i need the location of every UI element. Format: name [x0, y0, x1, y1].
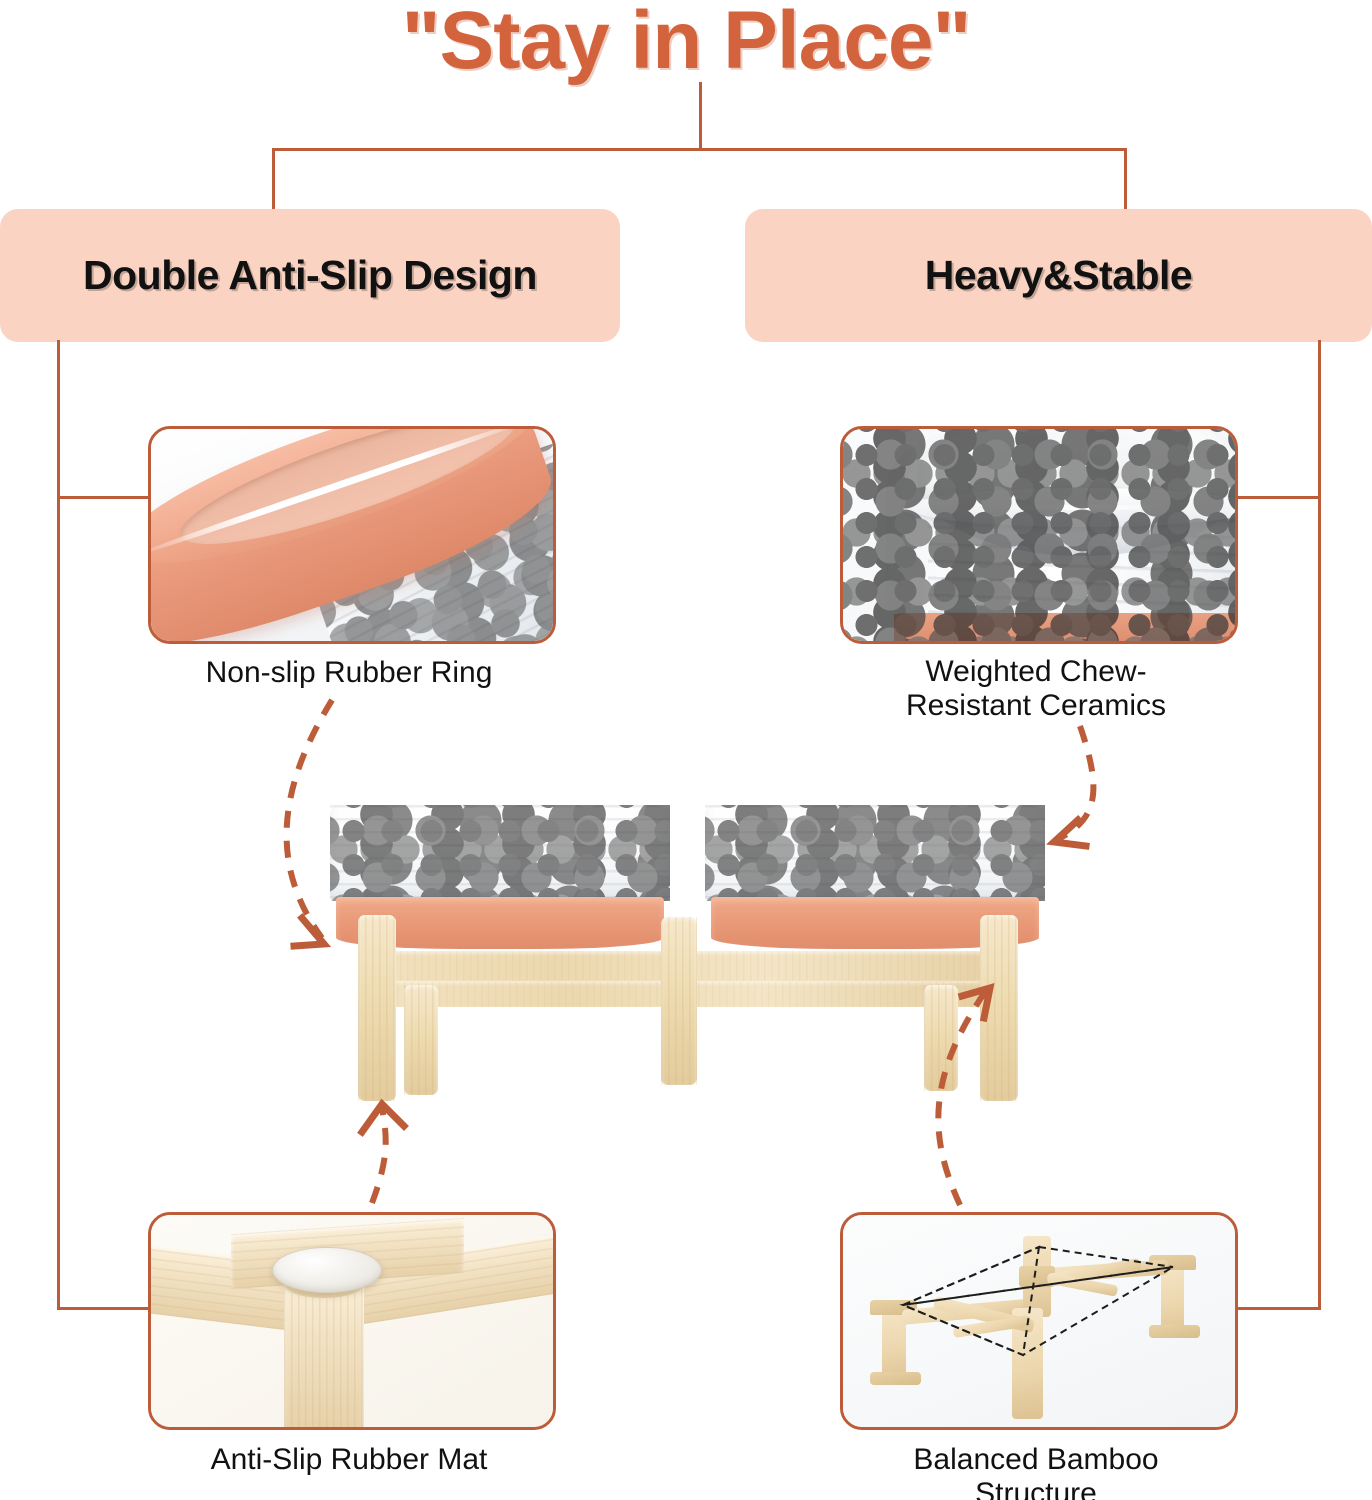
connector-right-lower-branch [1228, 1307, 1321, 1310]
arrowhead-anti-slip-rubber-mat [362, 1104, 404, 1132]
page-title: "Stay in Place" [0, 0, 1372, 88]
stand-leg-outer-left [358, 915, 396, 1101]
caption-text: Anti-Slip Rubber Mat [211, 1443, 488, 1476]
connector-left-upper-branch [57, 496, 149, 499]
photo-rubber-mat [151, 1215, 553, 1427]
category-label-heavy-stable: Heavy&Stable [925, 252, 1192, 299]
arrow-weighted-ceramics [1060, 726, 1093, 838]
connector-top-bar [272, 148, 1127, 151]
arrowhead-weighted-ceramics [1054, 820, 1086, 846]
caption-text-line1: Weighted Chew- [850, 655, 1222, 689]
feature-photo-weighted-chew-resistant-ceramics [840, 426, 1238, 644]
feature-photo-non-slip-rubber-ring [148, 426, 556, 644]
feature-caption-weighted-chew-resistant-ceramics: Weighted Chew- Resistant Ceramics [850, 655, 1222, 722]
feature-photo-balanced-bamboo-structure [840, 1212, 1238, 1430]
connector-to-right-box [1124, 148, 1127, 210]
arrowhead-non-slip-rubber-ring [294, 918, 324, 946]
caption-text-line2: Resistant Ceramics [850, 689, 1222, 723]
stand-leg-outer-right [980, 915, 1018, 1101]
connector-to-left-box [272, 148, 275, 210]
stand-leg-inner-left [404, 985, 438, 1095]
feature-photo-anti-slip-rubber-mat [148, 1212, 556, 1430]
stand-leg-inner-right [924, 985, 958, 1091]
feature-caption-anti-slip-rubber-mat: Anti-Slip Rubber Mat [148, 1443, 550, 1477]
balance-triangle-overlay [843, 1215, 1235, 1427]
hero-product-photo [330, 805, 1045, 1105]
connector-right-upper-branch [1228, 496, 1321, 499]
connector-left-trunk [57, 340, 60, 1310]
category-box-heavy-stable[interactable]: Heavy&Stable [745, 209, 1372, 342]
arrow-non-slip-rubber-ring [287, 700, 332, 938]
photo-ceramic-bowl [843, 429, 1235, 641]
photo-rubber-ring [151, 429, 553, 641]
photo-bamboo-structure [843, 1215, 1235, 1427]
caption-text-line2: Structure [850, 1477, 1222, 1500]
feature-caption-non-slip-rubber-ring: Non-slip Rubber Ring [148, 656, 550, 690]
connector-title-stem [699, 82, 702, 150]
feature-caption-balanced-bamboo-structure: Balanced Bamboo Structure [850, 1443, 1222, 1500]
stand-post-center [661, 917, 697, 1085]
infographic-page: "Stay in Place" Double Anti-Slip Design … [0, 0, 1372, 1500]
connector-right-trunk [1318, 340, 1321, 1310]
arrow-anti-slip-rubber-mat [372, 1108, 386, 1203]
category-box-double-anti-slip[interactable]: Double Anti-Slip Design [0, 209, 620, 342]
category-label-double-anti-slip: Double Anti-Slip Design [83, 252, 537, 299]
rubber-pad [272, 1247, 383, 1294]
caption-text-line1: Balanced Bamboo [850, 1443, 1222, 1477]
caption-text: Non-slip Rubber Ring [206, 656, 493, 689]
connector-left-lower-branch [57, 1307, 149, 1310]
